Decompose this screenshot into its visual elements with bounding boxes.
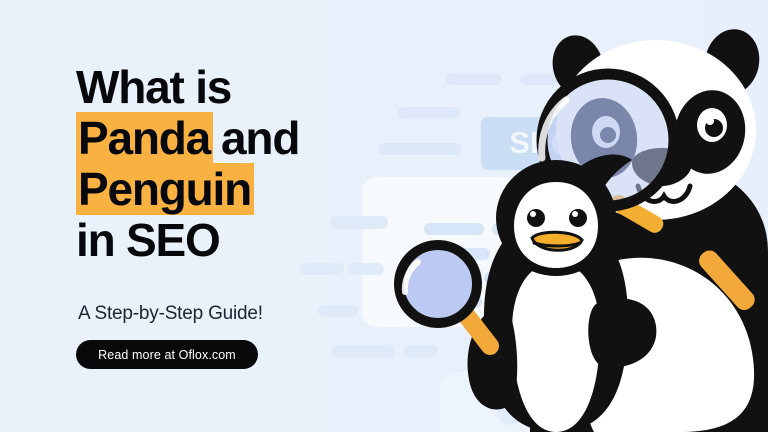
panda-eye-right-glint bbox=[706, 117, 714, 125]
headline-line-3: Penguin bbox=[76, 164, 396, 215]
page-title: What is Pandaand Penguin in SEO bbox=[76, 62, 396, 266]
read-more-button-label: Read more at Oflox.com bbox=[98, 348, 236, 362]
headline-line-2: Pandaand bbox=[76, 113, 396, 164]
headline-line-1: What is bbox=[76, 62, 396, 113]
headline-line-2-rest: and bbox=[221, 112, 299, 164]
headline-highlight-penguin: Penguin bbox=[76, 163, 254, 215]
headline-highlight-panda: Panda bbox=[76, 112, 213, 164]
headline-line-4: in SEO bbox=[76, 215, 396, 266]
penguin-belly bbox=[512, 262, 600, 432]
penguin-eye-left bbox=[527, 209, 545, 227]
penguin-eye-right-glint bbox=[572, 211, 578, 217]
seo-thumbnail-banner: SEO bbox=[0, 0, 768, 432]
penguin-face bbox=[514, 182, 598, 268]
penguin-beak bbox=[532, 232, 582, 250]
read-more-button[interactable]: Read more at Oflox.com bbox=[76, 340, 258, 369]
penguin-eye-right bbox=[569, 209, 587, 227]
subtitle: A Step-by-Step Guide! bbox=[78, 301, 263, 327]
penguin-eye-left-glint bbox=[530, 211, 536, 217]
headline-block: What is Pandaand Penguin in SEO bbox=[76, 62, 396, 266]
mascot-illustration bbox=[380, 0, 768, 432]
